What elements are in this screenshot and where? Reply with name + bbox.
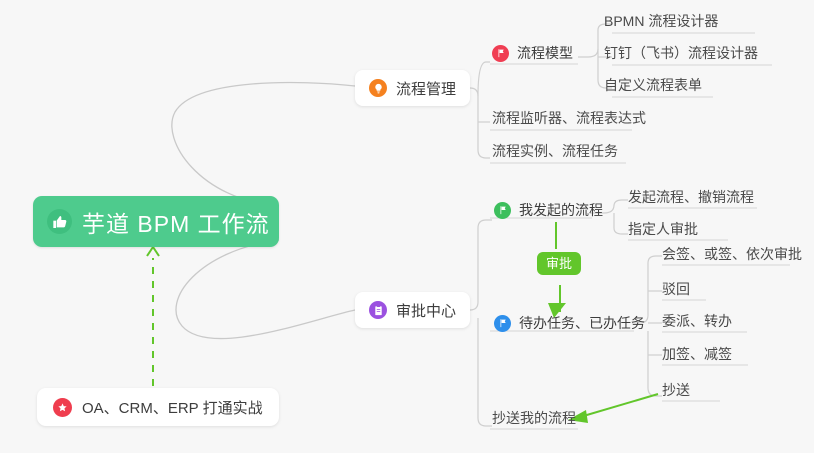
- branch-approval-center[interactable]: 审批中心: [355, 292, 470, 328]
- leaf-reject[interactable]: 驳回: [662, 279, 690, 299]
- root-node[interactable]: 芋道 BPM 工作流: [33, 196, 279, 247]
- leaf-custom-form[interactable]: 自定义流程表单: [604, 75, 702, 95]
- leaf-assigned-approver[interactable]: 指定人审批: [628, 219, 698, 239]
- leaf-process-instance[interactable]: 流程实例、流程任务: [492, 141, 618, 161]
- branch-label: 流程管理: [396, 78, 456, 99]
- flag-icon: [494, 202, 511, 219]
- leaf-cc-to-me-process[interactable]: 抄送我的流程: [492, 408, 576, 428]
- leaf-carbon-copy[interactable]: 抄送: [662, 380, 690, 400]
- branch-flow-management[interactable]: 流程管理: [355, 70, 470, 106]
- flag-icon: [492, 45, 509, 62]
- lightbulb-icon: [369, 79, 387, 97]
- node-process-model[interactable]: 流程模型: [492, 41, 573, 65]
- star-icon: [53, 398, 72, 417]
- branch-label: 审批中心: [396, 300, 456, 321]
- node-todo-done-tasks[interactable]: 待办任务、已办任务: [494, 311, 645, 335]
- flag-icon: [494, 315, 511, 332]
- leaf-process-listener[interactable]: 流程监听器、流程表达式: [492, 108, 646, 128]
- root-label: 芋道 BPM 工作流: [82, 205, 270, 239]
- node-label: 待办任务、已办任务: [519, 313, 645, 333]
- mindmap-canvas: 芋道 BPM 工作流 流程管理 审批中心: [0, 0, 814, 453]
- annotation-approval: 审批: [537, 252, 581, 275]
- leaf-add-remove-sign[interactable]: 加签、减签: [662, 344, 732, 364]
- callout-node[interactable]: OA、CRM、ERP 打通实战: [37, 388, 279, 426]
- node-my-started-process[interactable]: 我发起的流程: [494, 198, 603, 222]
- node-label: 我发起的流程: [519, 200, 603, 220]
- leaf-countersign[interactable]: 会签、或签、依次审批: [662, 244, 802, 264]
- leaf-delegate-transfer[interactable]: 委派、转办: [662, 311, 732, 331]
- leaf-dingtalk-designer[interactable]: 钉钉（飞书）流程设计器: [604, 43, 758, 63]
- callout-label: OA、CRM、ERP 打通实战: [82, 397, 263, 418]
- thumbs-up-icon: [47, 209, 72, 234]
- clipboard-icon: [369, 301, 387, 319]
- leaf-start-cancel-process[interactable]: 发起流程、撤销流程: [628, 187, 754, 207]
- node-label: 流程模型: [517, 43, 573, 63]
- leaf-bpmn-designer[interactable]: BPMN 流程设计器: [604, 11, 718, 31]
